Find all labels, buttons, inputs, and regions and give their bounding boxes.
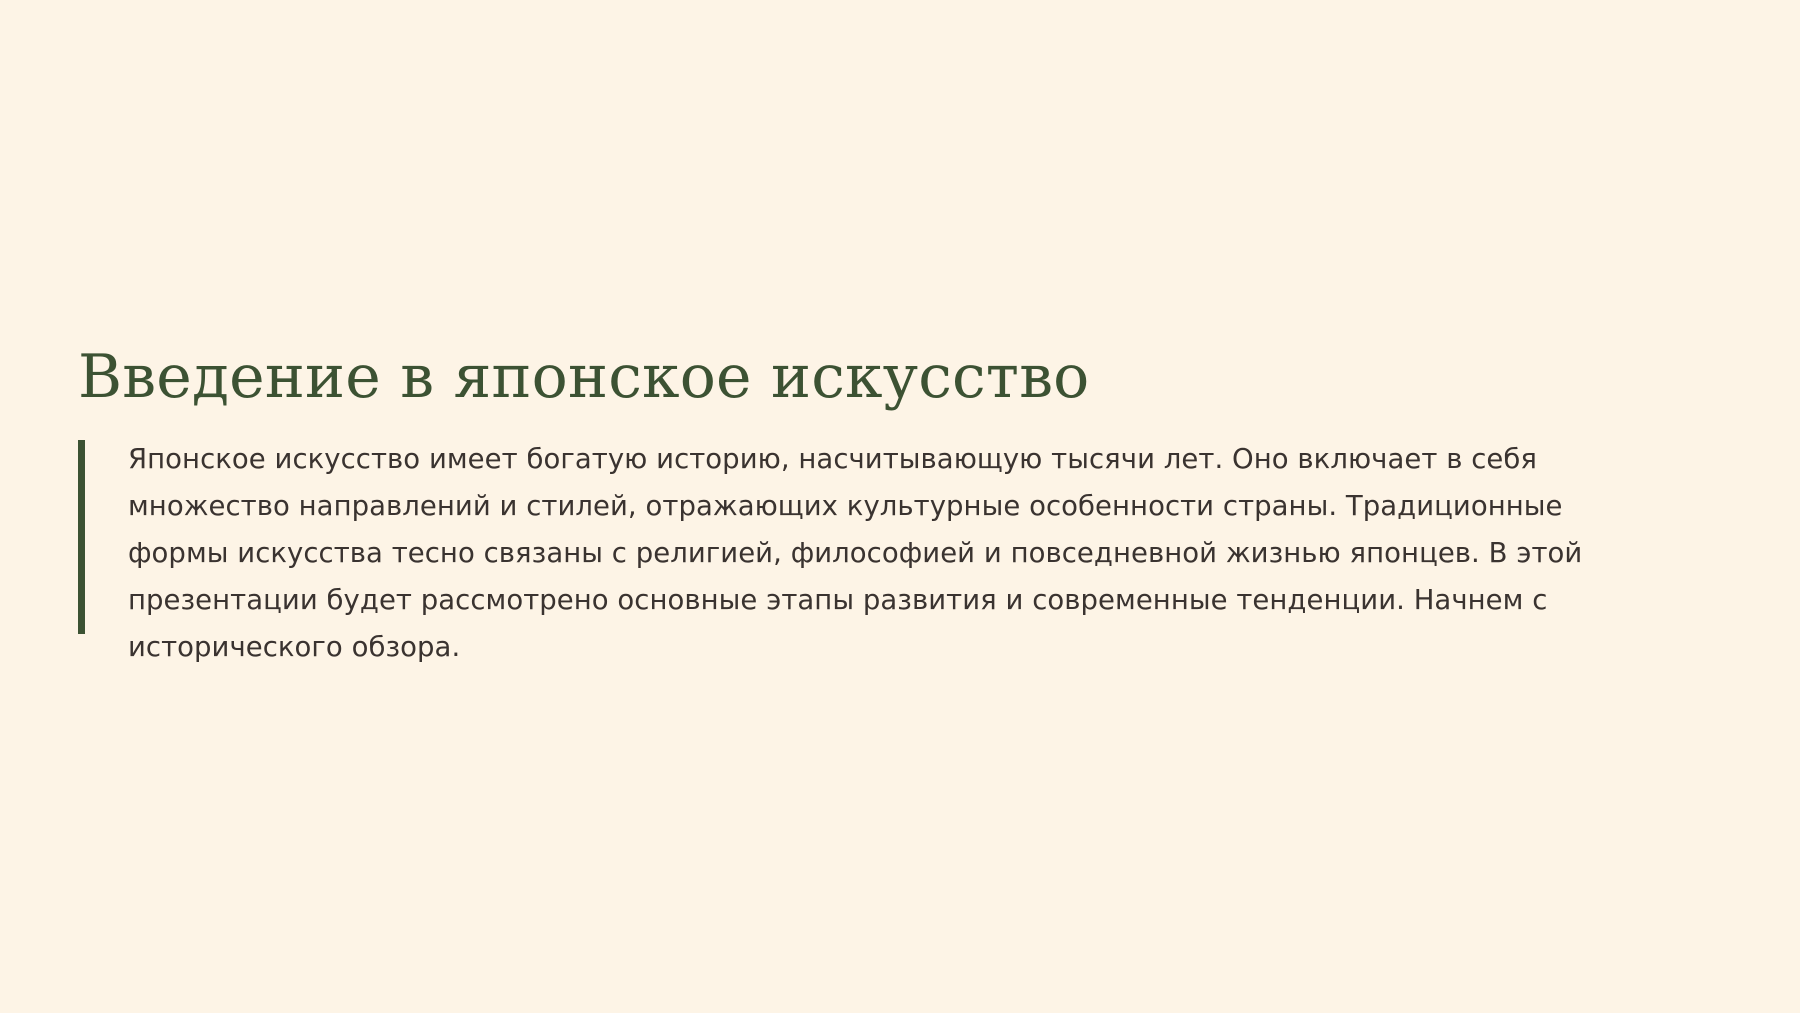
presentation-slide: Введение в японское искусство Японское и… [0,0,1800,1013]
page-title: Введение в японское искусство [78,345,1718,410]
body-block: Японское искусство имеет богатую историю… [78,436,1718,671]
body-paragraph: Японское искусство имеет богатую историю… [128,436,1668,671]
slide-content: Введение в японское искусство Японское и… [78,345,1718,671]
accent-bar [78,440,85,634]
